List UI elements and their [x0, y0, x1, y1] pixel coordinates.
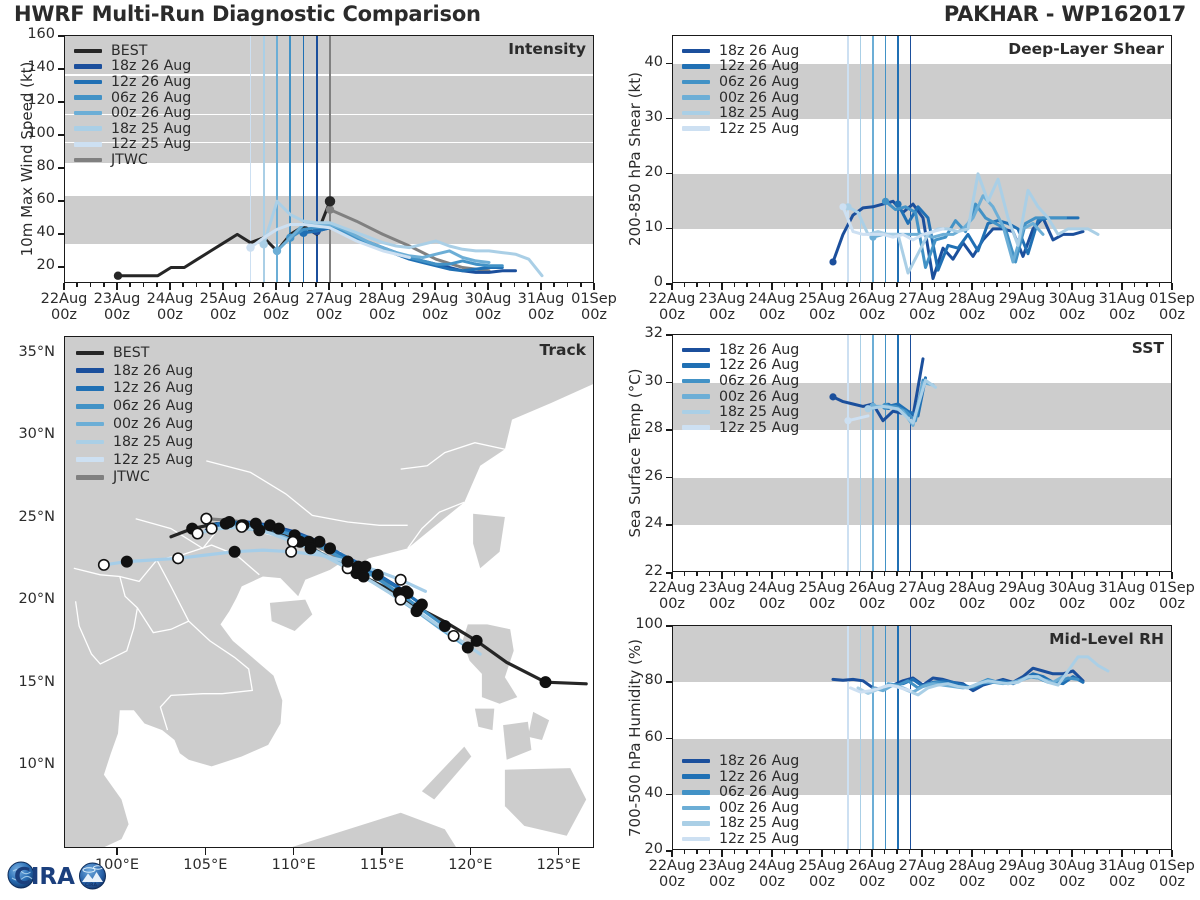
- legend-swatch: [74, 95, 102, 100]
- legend-item: 18z 26 Aug: [682, 43, 799, 59]
- legend-swatch: [682, 363, 710, 368]
- map-land-taiwan: [473, 514, 505, 569]
- legend-label: 18z 25 Aug: [719, 404, 799, 420]
- lon-tick-mark: [205, 848, 207, 855]
- lat-tick-label: 35°N: [18, 344, 55, 360]
- legend-label: 12z 26 Aug: [719, 58, 799, 74]
- track-marker-open: [395, 594, 405, 604]
- track-marker-open: [286, 547, 296, 557]
- legend-label: JTWC: [111, 152, 148, 168]
- panel-title-shear: Deep-Layer Shear: [1008, 40, 1164, 58]
- track-marker-filled: [358, 571, 368, 581]
- legend-label: 18z 26 Aug: [113, 363, 193, 379]
- legend-label: 18z 26 Aug: [719, 43, 799, 59]
- legend-item: 00z 26 Aug: [682, 800, 799, 816]
- legend-swatch: [682, 379, 710, 384]
- series-start-marker: [864, 405, 871, 412]
- map-land-panay: [503, 722, 531, 760]
- lat-tick-label: 30°N: [18, 426, 55, 442]
- series-line: [833, 201, 1083, 278]
- legend-label: 06z 26 Aug: [719, 74, 799, 90]
- legend-label: 12z 26 Aug: [113, 380, 193, 396]
- lon-tick-mark: [558, 848, 560, 855]
- series-start-marker: [246, 243, 254, 251]
- track-marker-filled: [274, 523, 284, 533]
- track-marker-open: [288, 537, 298, 547]
- legend-label: 18z 25 Aug: [719, 105, 799, 121]
- track-marker-filled: [373, 570, 383, 580]
- track-marker-filled: [254, 525, 264, 535]
- legend-label: 12z 25 Aug: [719, 121, 799, 137]
- legend-label: 12z 25 Aug: [719, 420, 799, 436]
- legend-label: 18z 25 Aug: [113, 434, 193, 450]
- map-land-samar: [528, 712, 549, 740]
- series-start-marker: [273, 247, 281, 255]
- series-line: [868, 380, 936, 423]
- legend-swatch: [682, 348, 710, 353]
- map-land-palawan: [422, 747, 471, 800]
- lon-tick-mark: [116, 848, 118, 855]
- legend-item: 00z 26 Aug: [682, 389, 799, 405]
- legend-swatch: [682, 49, 710, 54]
- legend-item: 12z 26 Aug: [682, 358, 799, 374]
- svg-text:CIRA: CIRA: [14, 864, 75, 890]
- panel-title-rh: Mid-Level RH: [1049, 630, 1164, 648]
- lat-tick-label: 25°N: [18, 509, 55, 525]
- series-start-marker: [844, 417, 851, 424]
- track-marker-open: [99, 560, 109, 570]
- legend-label: 12z 25 Aug: [113, 452, 193, 468]
- lat-tick-label: 20°N: [18, 591, 55, 607]
- legend-label: 00z 26 Aug: [113, 416, 193, 432]
- lon-tick-mark: [470, 848, 472, 855]
- legend-item: 18z 25 Aug: [76, 433, 193, 451]
- legend-item: 06z 26 Aug: [76, 397, 193, 415]
- legend-item: 12z 25 Aug: [76, 451, 193, 469]
- lon-tick-label: 120°E: [430, 857, 510, 873]
- legend-label: 18z 26 Aug: [111, 58, 191, 74]
- legend-item: 18z 25 Aug: [682, 105, 799, 121]
- legend-item: 06z 26 Aug: [74, 90, 191, 106]
- lat-tick-label: 10°N: [18, 756, 55, 772]
- track-marker-filled: [122, 556, 132, 566]
- panel-title-intensity: Intensity: [508, 40, 586, 58]
- legend-item: 18z 25 Aug: [682, 816, 799, 832]
- legend-label: 12z 25 Aug: [719, 831, 799, 847]
- legend-label: BEST: [111, 43, 147, 59]
- best-current-marker: [325, 196, 335, 206]
- legend-swatch: [682, 759, 710, 764]
- track-marker-filled: [325, 543, 335, 553]
- map-land-mindoro: [475, 709, 494, 731]
- map-land-borneo: [286, 813, 457, 848]
- series-start-marker: [839, 203, 846, 210]
- legend-track: BEST18z 26 Aug12z 26 Aug06z 26 Aug00z 26…: [76, 344, 193, 486]
- legend-item: 12z 25 Aug: [682, 831, 799, 847]
- map-land-mindanao: [505, 768, 586, 836]
- legend-swatch: [74, 111, 102, 116]
- legend-label: 12z 26 Aug: [719, 357, 799, 373]
- panel-title-track: Track: [540, 341, 586, 359]
- legend-label: 18z 26 Aug: [719, 753, 799, 769]
- legend-swatch: [74, 126, 102, 131]
- legend-swatch: [74, 142, 102, 147]
- legend-item: JTWC: [76, 469, 193, 487]
- legend-swatch: [682, 410, 710, 415]
- legend-label: 06z 26 Aug: [719, 373, 799, 389]
- legend-label: JTWC: [113, 469, 150, 485]
- series-line: [118, 201, 330, 275]
- legend-item: BEST: [76, 344, 193, 362]
- legend-swatch: [682, 95, 710, 100]
- legend-item: 18z 26 Aug: [74, 59, 191, 75]
- legend-item: 06z 26 Aug: [682, 784, 799, 800]
- lon-tick-label: 110°E: [254, 857, 334, 873]
- legend-label: 06z 26 Aug: [111, 90, 191, 106]
- legend-rh: 18z 26 Aug12z 26 Aug06z 26 Aug00z 26 Aug…: [682, 753, 799, 847]
- track-marker-open: [201, 513, 211, 523]
- series-start-marker: [829, 258, 836, 265]
- legend-label: 00z 26 Aug: [719, 389, 799, 405]
- lon-tick-label: 105°E: [165, 857, 245, 873]
- legend-item: 12z 26 Aug: [74, 74, 191, 90]
- legend-swatch: [74, 158, 102, 163]
- lon-tick-mark: [381, 848, 383, 855]
- legend-item: 12z 25 Aug: [682, 121, 799, 137]
- legend-label: 18z 25 Aug: [111, 121, 191, 137]
- track-marker-filled: [229, 547, 239, 557]
- legend-item: 12z 25 Aug: [682, 420, 799, 436]
- track-marker-filled: [224, 517, 234, 527]
- legend-swatch: [76, 351, 104, 356]
- legend-swatch: [682, 126, 710, 131]
- legend-label: 00z 26 Aug: [111, 105, 191, 121]
- legend-swatch: [76, 440, 104, 445]
- legend-swatch: [682, 111, 710, 116]
- legend-swatch: [74, 49, 102, 54]
- series-start-marker: [829, 393, 836, 400]
- lon-tick-mark: [293, 848, 295, 855]
- legend-swatch: [682, 821, 710, 826]
- legend-item: 06z 26 Aug: [682, 373, 799, 389]
- legend-item: 00z 26 Aug: [682, 90, 799, 106]
- lat-tick-label: 15°N: [18, 674, 55, 690]
- legend-item: 18z 25 Aug: [74, 121, 191, 137]
- track-marker-open: [206, 523, 216, 533]
- legend-swatch: [682, 790, 710, 795]
- legend-label: BEST: [113, 345, 149, 361]
- track-marker-open: [448, 631, 458, 641]
- legend-item: 00z 26 Aug: [76, 415, 193, 433]
- legend-item: 12z 26 Aug: [682, 59, 799, 75]
- legend-swatch: [682, 774, 710, 779]
- legend-swatch: [682, 394, 710, 399]
- legend-swatch: [76, 368, 104, 373]
- series-start-marker: [882, 198, 889, 205]
- track-marker-open: [395, 575, 405, 585]
- legend-item: BEST: [74, 43, 191, 59]
- legend-item: 18z 26 Aug: [76, 362, 193, 380]
- series-line: [858, 657, 1108, 695]
- legend-label: 18z 26 Aug: [719, 342, 799, 358]
- legend-intensity: BEST18z 26 Aug12z 26 Aug06z 26 Aug00z 26…: [74, 43, 191, 168]
- track-marker-filled: [440, 621, 450, 631]
- cira-logo: CIRA CIRA: [6, 852, 110, 896]
- lon-tick-label: 115°E: [342, 857, 422, 873]
- legend-item: JTWC: [74, 152, 191, 168]
- series-start-marker: [326, 205, 334, 213]
- legend-item: 12z 26 Aug: [682, 769, 799, 785]
- legend-swatch: [682, 80, 710, 85]
- legend-label: 00z 26 Aug: [719, 90, 799, 106]
- legend-label: 06z 26 Aug: [113, 398, 193, 414]
- legend-label: 18z 25 Aug: [719, 815, 799, 831]
- track-marker-open: [236, 522, 246, 532]
- legend-swatch: [74, 80, 102, 85]
- legend-swatch: [76, 404, 104, 409]
- track-marker-filled: [463, 642, 473, 652]
- track-marker-filled: [305, 543, 315, 553]
- legend-swatch: [682, 64, 710, 69]
- panel-title-sst: SST: [1132, 339, 1164, 357]
- legend-swatch: [76, 422, 104, 427]
- track-marker-filled: [342, 556, 352, 566]
- legend-label: 12z 25 Aug: [111, 136, 191, 152]
- track-marker-open: [173, 553, 183, 563]
- series-line: [848, 174, 1098, 273]
- legend-swatch: [682, 837, 710, 842]
- series-start-marker: [894, 200, 901, 207]
- legend-sst: 18z 26 Aug12z 26 Aug06z 26 Aug00z 26 Aug…: [682, 342, 799, 436]
- svg-text:CIRA: CIRA: [85, 882, 97, 888]
- legend-swatch: [76, 386, 104, 391]
- legend-item: 18z 25 Aug: [682, 404, 799, 420]
- legend-swatch: [76, 457, 104, 462]
- track-marker-filled: [360, 561, 370, 571]
- track-marker-filled: [540, 677, 550, 687]
- legend-shear: 18z 26 Aug12z 26 Aug06z 26 Aug00z 26 Aug…: [682, 43, 799, 137]
- legend-item: 06z 26 Aug: [682, 74, 799, 90]
- legend-swatch: [74, 64, 102, 69]
- legend-label: 12z 26 Aug: [111, 74, 191, 90]
- legend-label: 00z 26 Aug: [719, 800, 799, 816]
- legend-swatch: [76, 475, 104, 480]
- legend-item: 18z 26 Aug: [682, 753, 799, 769]
- legend-item: 18z 26 Aug: [682, 342, 799, 358]
- legend-label: 06z 26 Aug: [719, 784, 799, 800]
- map-land-hainan: [270, 600, 312, 631]
- series-start-marker: [114, 272, 122, 280]
- legend-item: 12z 25 Aug: [74, 137, 191, 153]
- track-marker-open: [192, 528, 202, 538]
- track-marker-filled: [411, 606, 421, 616]
- legend-swatch: [682, 425, 710, 430]
- legend-label: 12z 26 Aug: [719, 769, 799, 785]
- legend-item: 12z 26 Aug: [76, 380, 193, 398]
- legend-item: 00z 26 Aug: [74, 105, 191, 121]
- lon-tick-label: 125°E: [519, 857, 599, 873]
- legend-swatch: [682, 806, 710, 811]
